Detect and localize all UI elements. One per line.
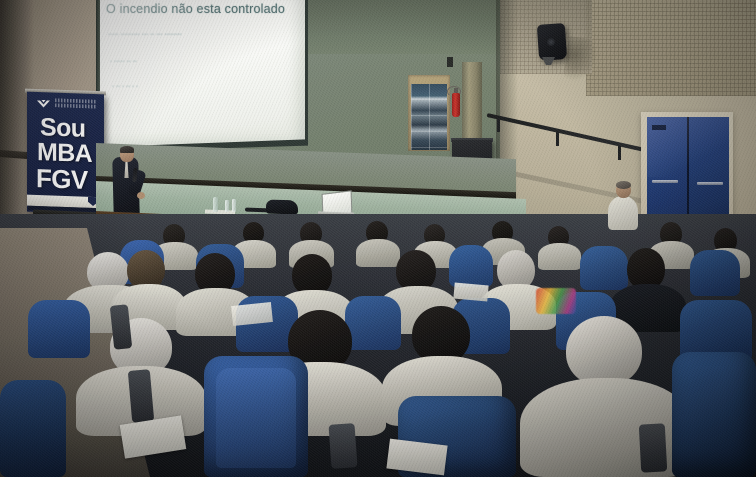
auditorium-photo: O incendio não esta controlado ••••• •••… — [0, 0, 756, 477]
handrail-post — [497, 118, 500, 132]
slide-bullet-3: • •• • •• • • — [112, 84, 138, 90]
acoustic-panel-right — [586, 0, 756, 96]
slide-bullet-2: • ••••• •• •• — [110, 59, 137, 65]
handout-paper — [231, 302, 273, 326]
auditorium-seat — [28, 300, 90, 358]
attendee-graphic-shirt — [536, 288, 576, 314]
seat-armrest — [128, 369, 154, 423]
auditorium-seat-foreground — [672, 352, 756, 477]
banner-logo-text — [55, 98, 97, 108]
slide-title: O incendio não esta controlado — [106, 2, 306, 16]
presenter-hair — [120, 146, 134, 153]
standing-attendee-body — [608, 196, 638, 230]
door-push-bar[interactable] — [652, 180, 678, 183]
fire-extinguisher-icon — [452, 93, 460, 117]
water-glass — [225, 200, 229, 212]
auditorium-seat-foreground — [0, 380, 66, 477]
exit-sign-plate — [652, 125, 666, 130]
seat-armrest — [639, 423, 667, 472]
banner-word-fgv: FGV — [36, 165, 88, 193]
speaker-shadow — [563, 36, 599, 84]
slide-bullet-1: ••••• ••••••••• ••• •• ••• •••••••• — [108, 32, 182, 38]
projection-screen — [99, 0, 305, 147]
water-bottle — [213, 197, 218, 212]
door-push-bar[interactable] — [697, 182, 723, 185]
wall-sign-plate — [447, 57, 453, 67]
auditorium-seat — [335, 243, 379, 285]
seat-cushion — [216, 368, 296, 468]
fgv-bird-icon — [36, 99, 51, 109]
standing-attendee-hair — [616, 181, 631, 189]
speaker-cone — [547, 38, 555, 46]
laptop-bag — [266, 200, 298, 215]
attendee-body — [538, 243, 581, 270]
water-glass — [232, 199, 236, 212]
auditorium-seat — [449, 245, 493, 287]
notice-board-grid — [411, 84, 447, 150]
seat-armrest — [328, 423, 357, 469]
attendee-head-bald — [566, 316, 642, 386]
handout-paper — [453, 283, 488, 302]
handrail-post — [556, 132, 559, 146]
auditorium-seat — [345, 296, 401, 350]
handrail-post — [618, 146, 621, 160]
auditorium-seat — [580, 246, 628, 290]
presenter-hand — [137, 192, 145, 199]
auditorium-seat — [690, 250, 740, 296]
